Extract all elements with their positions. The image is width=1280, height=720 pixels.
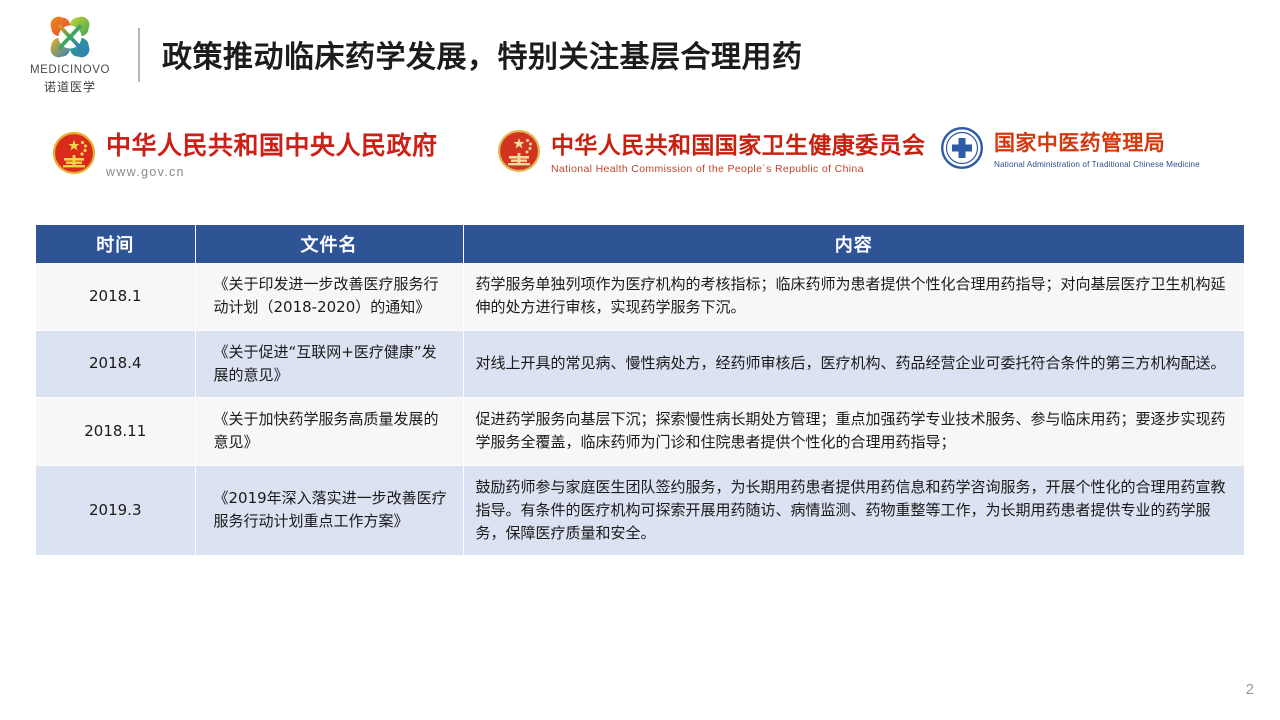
cell-document: 《关于促进“互联网+医疗健康”发展的意见》 bbox=[195, 330, 463, 398]
org-logo-central-government: 中华人民共和国中央人民政府 www.gov.cn bbox=[52, 126, 438, 179]
org-name-cn: 中华人民共和国中央人民政府 bbox=[106, 126, 438, 162]
china-national-emblem-icon bbox=[497, 129, 541, 173]
table-row: 2018.1 《关于印发进一步改善医疗服务行动计划（2018-2020）的通知》… bbox=[36, 263, 1244, 330]
cell-document: 《关于加快药学服务高质量发展的意见》 bbox=[195, 398, 463, 466]
table-row: 2019.3 《2019年深入落实进一步改善医疗服务行动计划重点工作方案》 鼓励… bbox=[36, 465, 1244, 556]
column-header-document: 文件名 bbox=[195, 225, 463, 263]
table-body: 2018.1 《关于印发进一步改善医疗服务行动计划（2018-2020）的通知》… bbox=[36, 263, 1244, 556]
clover-gradient-logo-icon bbox=[43, 13, 97, 61]
table-header-row: 时间 文件名 内容 bbox=[36, 225, 1244, 263]
brand-name-cn: 诺道医学 bbox=[44, 78, 96, 95]
brand-logo: MEDICINOVO 诺道医学 bbox=[0, 13, 134, 95]
cell-time: 2018.11 bbox=[36, 398, 195, 466]
cell-document: 《2019年深入落实进一步改善医疗服务行动计划重点工作方案》 bbox=[195, 465, 463, 556]
organization-logo-strip: 中华人民共和国中央人民政府 www.gov.cn 中华人民共和国国家卫生健康委员… bbox=[0, 118, 1280, 202]
china-national-emblem-icon bbox=[52, 131, 96, 175]
org-name-cn: 中华人民共和国国家卫生健康委员会 bbox=[551, 126, 925, 160]
cell-time: 2018.1 bbox=[36, 263, 195, 330]
table-header: 时间 文件名 内容 bbox=[36, 225, 1244, 263]
org-name-cn: 国家中医药管理局 bbox=[994, 127, 1200, 157]
org-name-en: www.gov.cn bbox=[106, 165, 438, 179]
cell-content: 药学服务单独列项作为医疗机构的考核指标；临床药师为患者提供个性化合理用药指导；对… bbox=[463, 263, 1244, 330]
org-logo-tcm-administration: 国家中医药管理局 National Administration of Trad… bbox=[940, 126, 1200, 170]
slide-header: MEDICINOVO 诺道医学 政策推动临床药学发展，特别关注基层合理用药 bbox=[0, 0, 1280, 108]
org-name-en: National Health Commission of the People… bbox=[551, 163, 925, 175]
cell-time: 2018.4 bbox=[36, 330, 195, 398]
cell-document: 《关于印发进一步改善医疗服务行动计划（2018-2020）的通知》 bbox=[195, 263, 463, 330]
table-row: 2018.11 《关于加快药学服务高质量发展的意见》 促进药学服务向基层下沉；探… bbox=[36, 398, 1244, 466]
cell-content: 对线上开具的常见病、慢性病处方，经药师审核后，医疗机构、药品经营企业可委托符合条… bbox=[463, 330, 1244, 398]
cell-content: 鼓励药师参与家庭医生团队签约服务，为长期用药患者提供用药信息和药学咨询服务，开展… bbox=[463, 465, 1244, 556]
cell-content: 促进药学服务向基层下沉；探索慢性病长期处方管理；重点加强药学专业技术服务、参与临… bbox=[463, 398, 1244, 466]
page-title: 政策推动临床药学发展，特别关注基层合理用药 bbox=[162, 32, 803, 76]
page-number: 2 bbox=[1246, 681, 1254, 698]
header-divider bbox=[138, 28, 140, 82]
org-logo-national-health-commission: 中华人民共和国国家卫生健康委员会 National Health Commiss… bbox=[497, 126, 925, 175]
table-row: 2018.4 《关于促进“互联网+医疗健康”发展的意见》 对线上开具的常见病、慢… bbox=[36, 330, 1244, 398]
cell-time: 2019.3 bbox=[36, 465, 195, 556]
policy-table: 时间 文件名 内容 2018.1 《关于印发进一步改善医疗服务行动计划（2018… bbox=[36, 225, 1244, 556]
column-header-time: 时间 bbox=[36, 225, 195, 263]
column-header-content: 内容 bbox=[463, 225, 1244, 263]
org-name-en: National Administration of Traditional C… bbox=[994, 160, 1200, 169]
tcm-cross-circle-emblem-icon bbox=[940, 126, 984, 170]
brand-name-en: MEDICINOVO bbox=[30, 64, 110, 76]
